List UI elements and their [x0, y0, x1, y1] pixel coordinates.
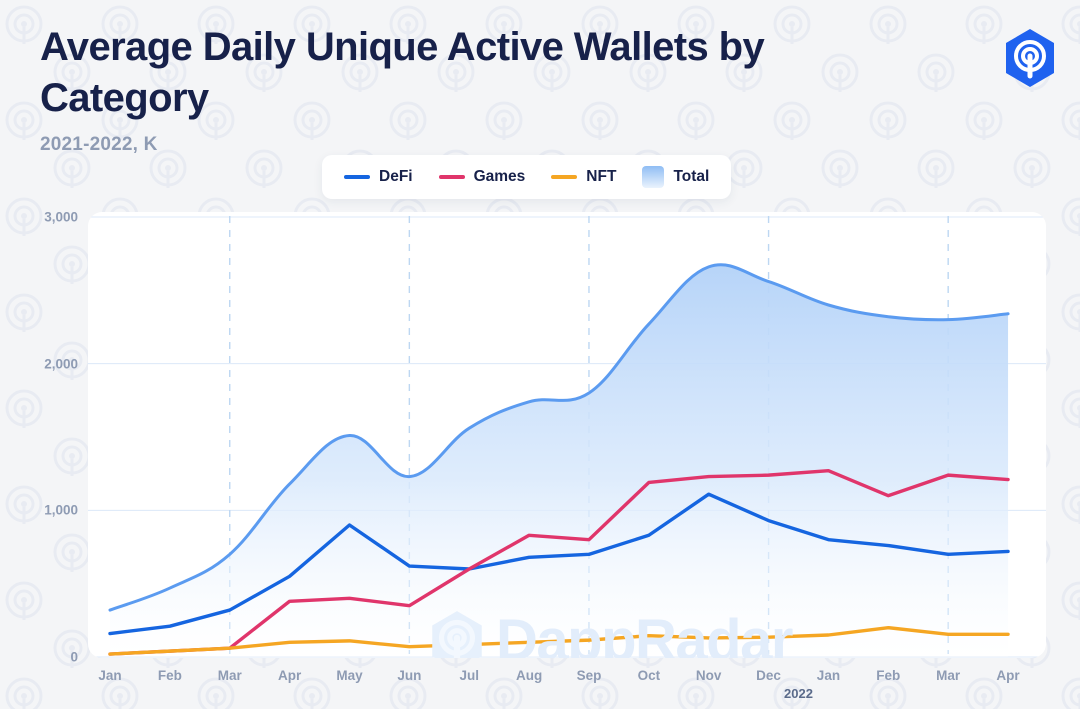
chart-header: Average Daily Unique Active Wallets by C…	[40, 22, 800, 156]
series-layer	[110, 265, 1008, 657]
x-tick-label: Jul	[459, 668, 479, 683]
legend-item-defi[interactable]: DeFi	[344, 168, 413, 186]
x-tick-label: Jun	[397, 668, 421, 683]
x-tick-label: Feb	[158, 668, 182, 683]
dappradar-hexagon-logo-icon	[998, 26, 1062, 90]
legend-item-total[interactable]: Total	[642, 166, 709, 188]
y-axis: 01,0002,0003,000	[0, 0, 84, 709]
x-tick-label: Nov	[696, 668, 722, 683]
legend-swatch-defi	[344, 175, 370, 179]
y-tick-label: 3,000	[44, 210, 78, 225]
legend-swatch-total	[642, 166, 664, 188]
x-tick-label: Jan	[817, 668, 840, 683]
legend-item-games[interactable]: Games	[439, 168, 526, 186]
chart-plot-area	[88, 212, 1046, 658]
legend-item-nft[interactable]: NFT	[551, 168, 616, 186]
x-tick-label: Apr	[996, 668, 1019, 683]
chart-plot-panel: DappRadar	[88, 212, 1046, 658]
x-tick-label: Sep	[577, 668, 602, 683]
x-tick-label: Oct	[638, 668, 661, 683]
x-axis-year-label: 2022	[784, 686, 813, 701]
legend-label-total: Total	[673, 168, 709, 186]
x-tick-label: Dec	[756, 668, 781, 683]
x-tick-label: Mar	[218, 668, 242, 683]
x-tick-label: Aug	[516, 668, 542, 683]
chart-legend[interactable]: DeFi Games NFT Total	[322, 155, 731, 199]
legend-label-games: Games	[474, 168, 526, 186]
x-tick-label: Mar	[936, 668, 960, 683]
legend-label-defi: DeFi	[379, 168, 413, 186]
page-title: Average Daily Unique Active Wallets by C…	[40, 22, 800, 124]
series-area-total	[110, 265, 1008, 657]
x-tick-label: Apr	[278, 668, 301, 683]
chart-subtitle: 2021-2022, K	[40, 134, 800, 156]
x-axis: JanFebMarAprMayJunJulAugSepOctNovDecJanF…	[0, 668, 1080, 688]
x-tick-label: Jan	[98, 668, 121, 683]
x-tick-label: Feb	[876, 668, 900, 683]
y-tick-label: 0	[70, 650, 78, 665]
legend-swatch-nft	[551, 175, 577, 179]
y-tick-label: 2,000	[44, 356, 78, 371]
y-tick-label: 1,000	[44, 503, 78, 518]
legend-label-nft: NFT	[586, 168, 616, 186]
x-tick-label: May	[336, 668, 362, 683]
legend-swatch-games	[439, 175, 465, 179]
